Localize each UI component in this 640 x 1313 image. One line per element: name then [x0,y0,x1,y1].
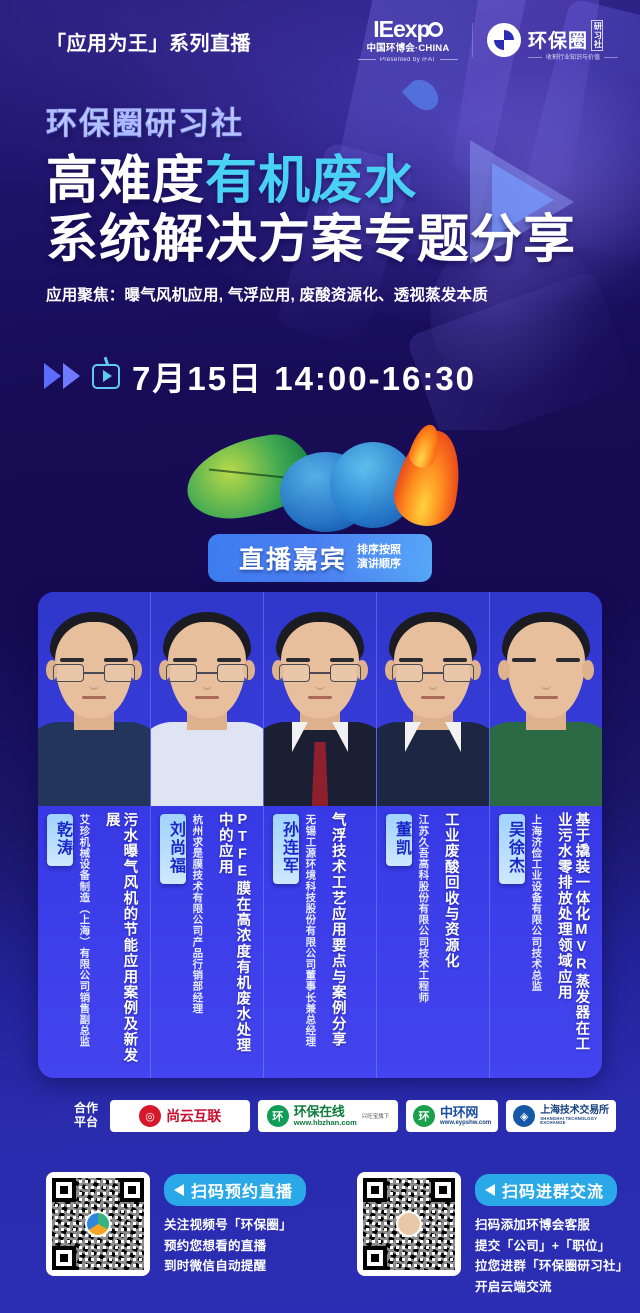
qr-block-group: 扫码进群交流 扫码添加环博会客服 提交「公司」+「职位」 拉您进群「环保圈研习社… [329,1172,640,1298]
guest-name-badge: 吴徐杰 [499,814,525,884]
guests-panel: 乾涛 艾珍机械设备制造（上海）有限公司销售副总监 污水曝气风机的节能应用案例及新… [38,592,602,1078]
partner-logo-shangyun[interactable]: ◎ 尚云互联 [110,1100,250,1132]
qr-pill-subscribe: 扫码预约直播 [164,1174,306,1206]
guest-name-badge: 董凯 [386,814,412,866]
guest-company: 艾珍机械设备制造（上海）有限公司销售副总监 [78,814,90,1064]
qr-code-group[interactable] [357,1172,461,1276]
partner-url: SHANGHAI TECHNOLOGY EXCHANGE [540,1117,609,1126]
guest-photo [38,592,150,806]
guest-company: 无锡工源环境科技股份有限公司董事长兼总经理 [304,814,316,1064]
tv-play-icon [92,364,120,389]
qr-line: 预约您想看的直播 [164,1236,306,1257]
guest-name-badge: 孙连军 [273,814,299,884]
qr-center-avatar-icon [396,1211,422,1237]
qr-line: 关注视频号「环保圈」 [164,1215,306,1236]
logo-divider [472,23,473,57]
partner-url: www.eypshw.com [440,1120,491,1126]
guest-topic: PTFE膜在高浓度有机废水处理中的应用 [215,812,250,1064]
shangyun-mark-icon: ◎ [139,1105,161,1127]
qr-line: 到时微信自动提醒 [164,1256,306,1277]
huanbaoquan-mark-icon [487,23,521,57]
partner-url: www.hbzhan.com [294,1119,357,1127]
qr-line: 拉您进群「环保圈研习社」 [475,1256,629,1277]
huanbaoquan-logo: 环保圈研习社 收割行业知识与价值 [487,20,618,61]
main-title-line-1: 高难度有机废水 [46,155,606,208]
poster-header: 「应用为王」系列直播 IEexp 中国环博会·CHINA Presented b… [0,0,640,82]
partner-tag: 兴旺宝旗下 [362,1112,390,1120]
live-stream-poster: 「应用为王」系列直播 IEexp 中国环博会·CHINA Presented b… [0,0,640,1313]
brand-name: 环保圈研习社 [46,108,606,139]
arrow-left-icon [485,1184,495,1196]
huanbaoquan-logo-badge: 研习社 [591,20,603,51]
guest-card[interactable]: 吴徐杰 上海济俭工业设备有限公司技术总监 基于撬装一体化MVR蒸发器在工业污水零… [490,592,602,1078]
partner-label: 合作 平台 [70,1102,102,1130]
eco-graphic [180,424,470,532]
guest-topic: 基于撬装一体化MVR蒸发器在工业污水零排放处理领域应用 [554,812,589,1064]
qr-lines-group: 扫码添加环博会客服 提交「公司」+「职位」 拉您进群「环保圈研习社」 开启云端交… [475,1215,629,1298]
partner-logo-eypshw[interactable]: 环 中环网 www.eypshw.com [406,1100,498,1132]
guests-banner-sub-1: 排序按照 [357,544,401,558]
guest-name-badge: 刘尚福 [160,814,186,884]
guest-card[interactable]: 乾涛 艾珍机械设备制造（上海）有限公司销售副总监 污水曝气风机的节能应用案例及新… [38,592,151,1078]
guest-photo [490,592,602,806]
partner-name: 环保在线 [294,1105,357,1119]
qr-line: 扫码添加环博会客服 [475,1215,629,1236]
guest-topic: 污水曝气风机的节能应用案例及新发展 [102,812,137,1064]
guest-card[interactable]: 刘尚福 杭州求是膜技术有限公司产品行销部经理 PTFE膜在高浓度有机废水处理中的… [151,592,264,1078]
qr-code-subscribe[interactable] [46,1172,150,1276]
ie-expo-logo-cn: 中国环博会·CHINA [366,44,449,54]
qr-line: 提交「公司」+「职位」 [475,1236,629,1257]
main-title-part-white: 高难度 [46,152,205,210]
guest-topic: 工业废酸回收与资源化 [441,812,459,1064]
guest-photo [151,592,263,806]
guest-topic: 气浮技术工艺应用要点与案例分享 [328,812,346,1064]
qr-block-subscribe: 扫码预约直播 关注视频号「环保圈」 预约您想看的直播 到时微信自动提醒 [0,1172,329,1298]
focus-subtitle: 应用聚焦：曝气风机应用, 气浮应用, 废酸资源化、透视蒸发本质 [46,283,606,305]
guest-card[interactable]: 董凯 江苏久吾高科股份有限公司技术工程师 工业废酸回收与资源化 [377,592,490,1078]
guest-photo [377,592,489,806]
qr-line: 开启云端交流 [475,1277,629,1298]
qr-section: 扫码预约直播 关注视频号「环保圈」 预约您想看的直播 到时微信自动提醒 [0,1172,640,1298]
partner-logo-hbzhan[interactable]: 环 环保在线 www.hbzhan.com 兴旺宝旗下 [258,1100,398,1132]
partner-name: 尚云互联 [166,1109,221,1124]
partner-logos-row: 合作 平台 ◎ 尚云互联 环 环保在线 www.hbzhan.com 兴旺宝旗下… [70,1100,580,1132]
guest-name-badge: 乾涛 [47,814,73,866]
guest-company: 杭州求是膜技术有限公司产品行销部经理 [191,814,203,1064]
qr-lines-subscribe: 关注视频号「环保圈」 预约您想看的直播 到时微信自动提醒 [164,1215,306,1277]
partner-name: 中环网 [440,1106,491,1120]
qr-center-logo-icon [85,1211,111,1237]
guests-banner-title: 直播嘉宾 [239,540,347,576]
ie-expo-logo-presented: Presented by IFAT [380,57,436,63]
guests-banner: 直播嘉宾 排序按照 演讲顺序 [208,534,432,582]
date-time-row: 7月15日 14:00-16:30 [44,352,476,400]
header-logos: IEexp 中国环博会·CHINA Presented by IFAT 环保圈研… [358,18,618,63]
guest-company: 上海济俭工业设备有限公司技术总监 [530,814,542,1064]
hbzhan-mark-icon: 环 [267,1105,289,1127]
hero-title-block: 环保圈研习社 高难度有机废水 系统解决方案专题分享 应用聚焦：曝气风机应用, 气… [46,108,606,305]
ie-expo-logo: IEexp 中国环博会·CHINA Presented by IFAT [358,18,458,63]
guests-banner-sub-2: 演讲顺序 [357,558,401,572]
main-title-line-2: 系统解决方案专题分享 [46,214,606,267]
eypshw-mark-icon: 环 [413,1105,435,1127]
guest-card[interactable]: 孙连军 无锡工源环境科技股份有限公司董事长兼总经理 气浮技术工艺应用要点与案例分… [264,592,377,1078]
arrow-left-icon [174,1184,184,1196]
huanbaoquan-logo-name: 环保圈 [528,32,588,51]
partner-logo-ste[interactable]: ◈ 上海技术交易所 SHANGHAI TECHNOLOGY EXCHANGE [506,1100,616,1132]
date-time-text: 7月15日 14:00-16:30 [132,352,476,400]
fast-forward-icon [44,363,80,389]
guest-photo [264,592,376,806]
qr-pill-group: 扫码进群交流 [475,1174,617,1206]
guest-company: 江苏久吾高科股份有限公司技术工程师 [417,814,429,1064]
ste-mark-icon: ◈ [513,1105,535,1127]
main-title-part-cyan: 有机废水 [205,152,417,210]
huanbaoquan-logo-tagline: 收割行业知识与价值 [546,55,600,61]
series-title: 「应用为王」系列直播 [46,27,251,56]
